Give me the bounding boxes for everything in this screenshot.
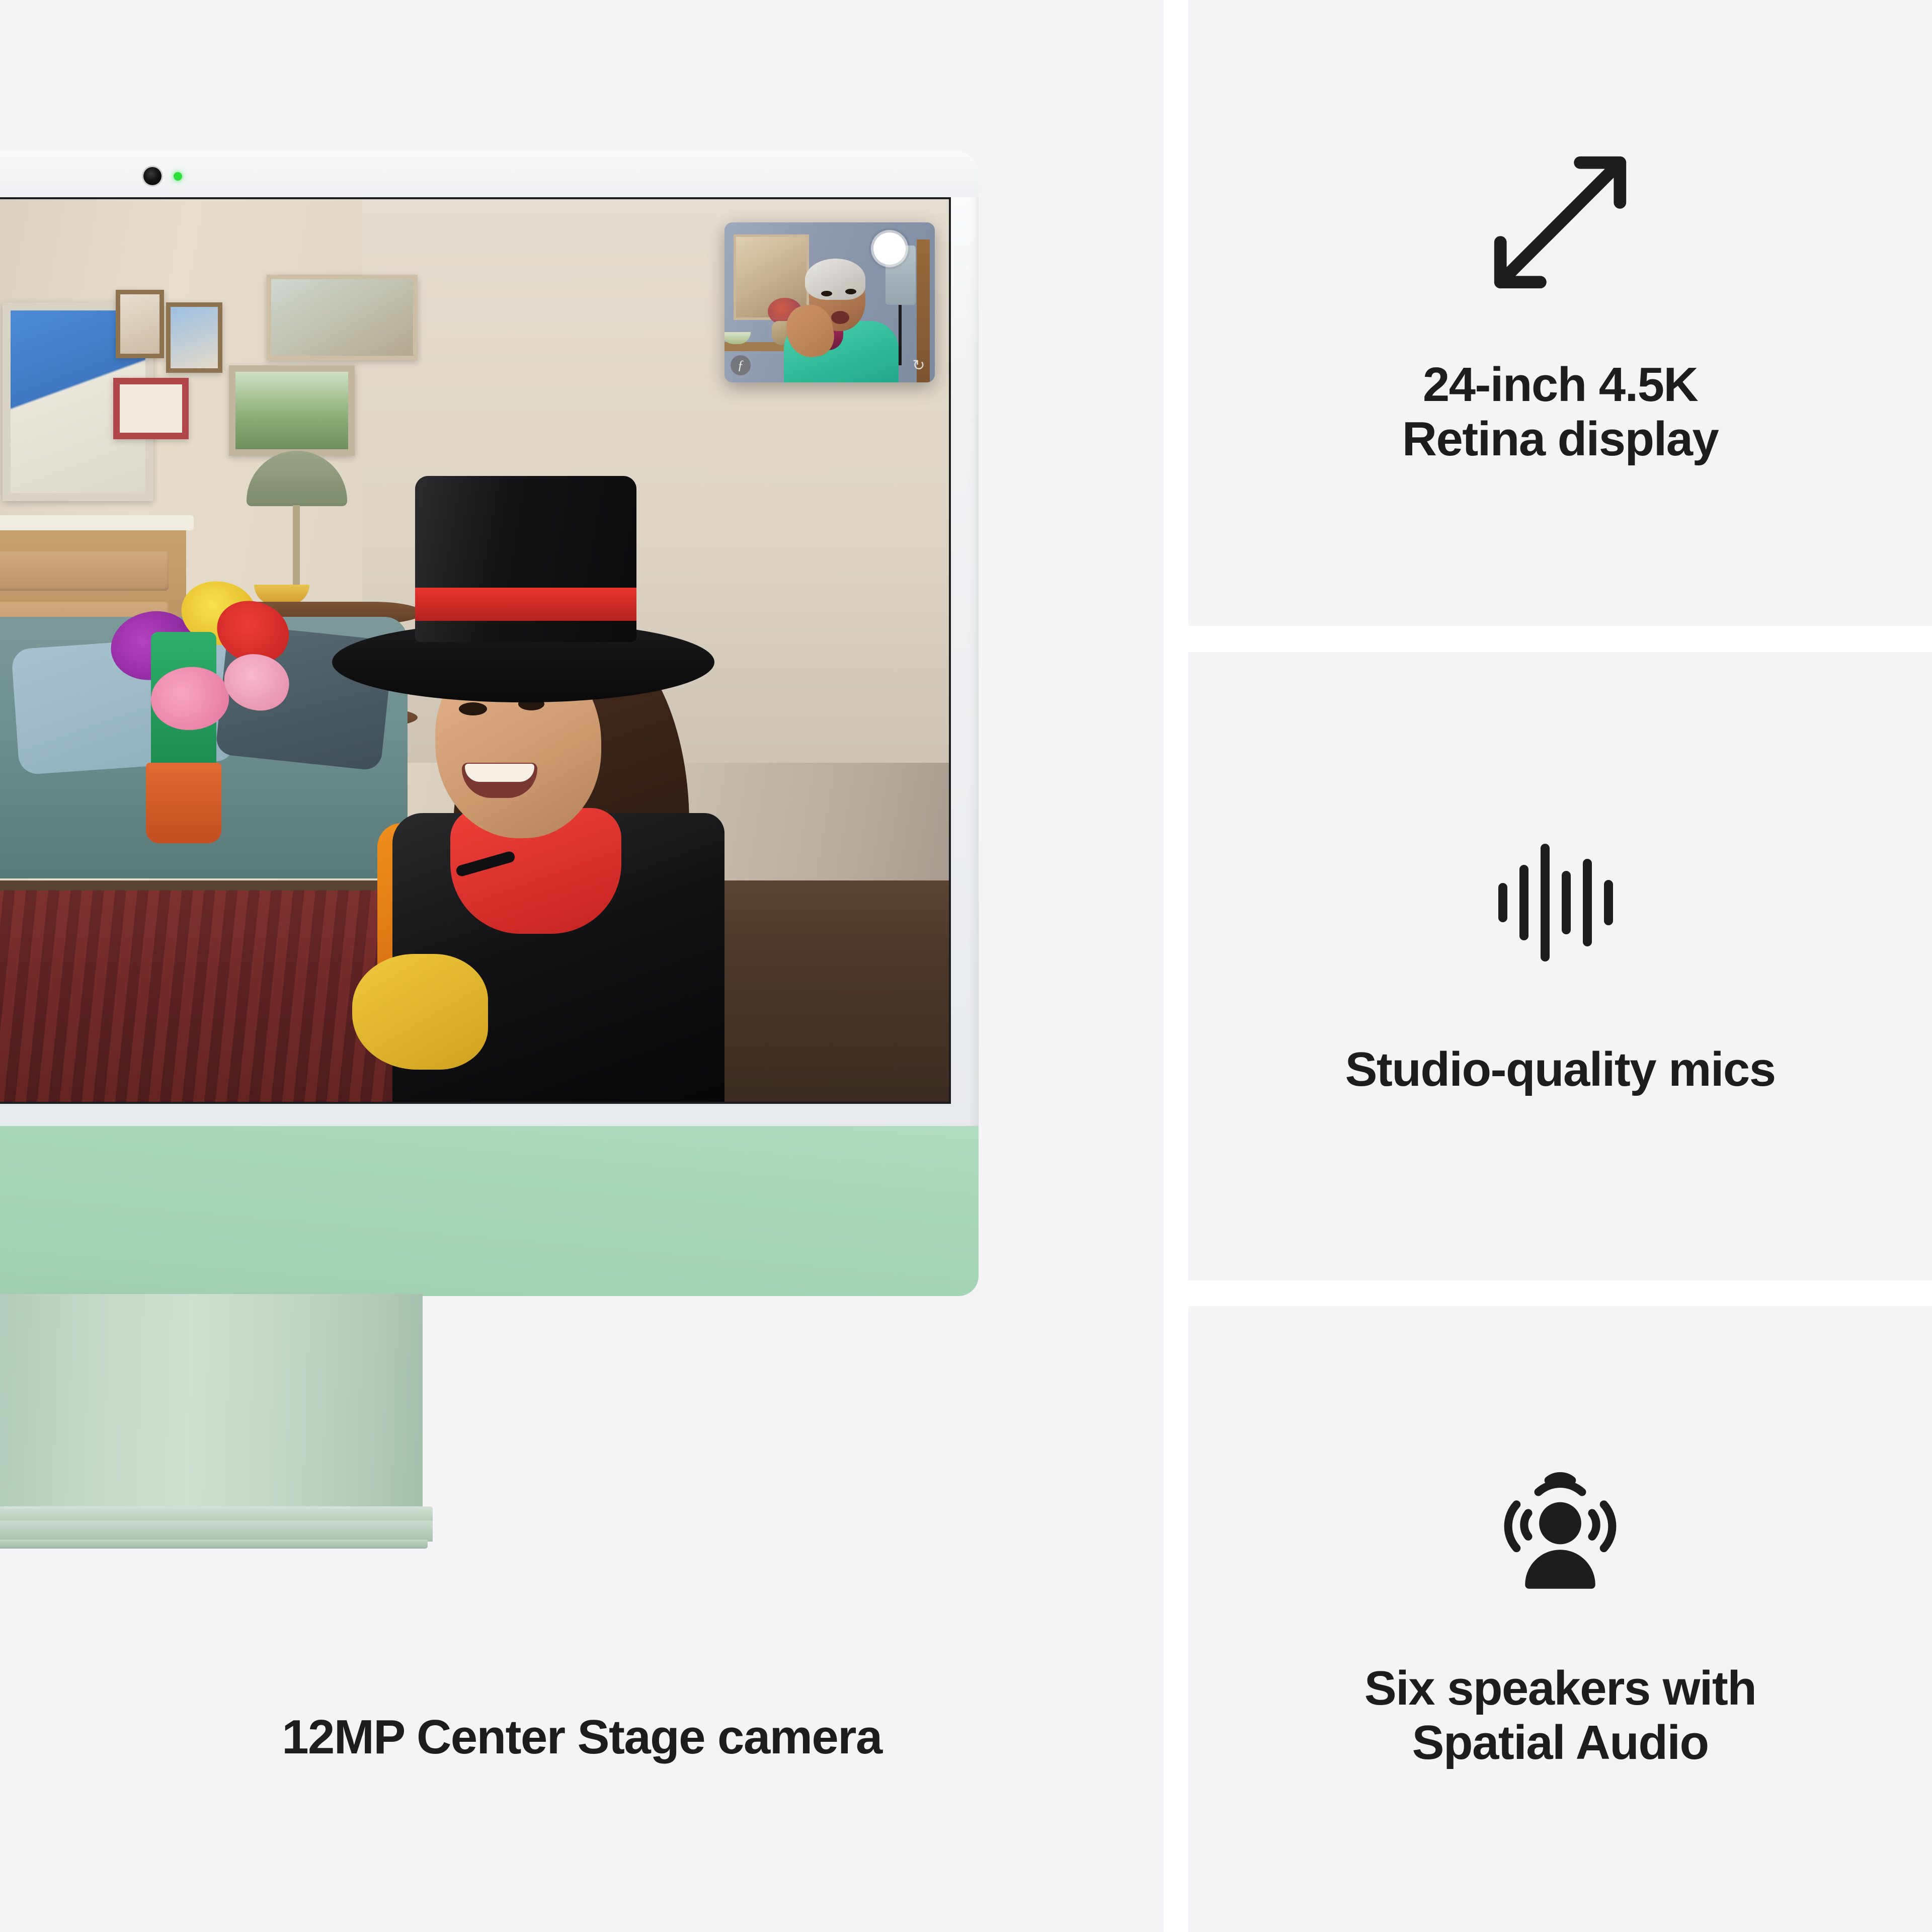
spatial-audio-person-icon: [1482, 1453, 1638, 1609]
wall-frame-landscape: [229, 365, 355, 456]
child-eye: [459, 702, 487, 715]
imac-product-image: ƒ ↻: [0, 151, 979, 1298]
display-feature-panel: 24-inch 4.5K Retina display: [1188, 0, 1932, 626]
camera-feature-caption: 12MP Center Stage camera: [0, 1710, 1164, 1765]
mics-feature-label: Studio-quality mics: [1345, 1042, 1775, 1097]
wall-frame-red: [113, 378, 189, 439]
camera-active-led-icon: [174, 172, 182, 181]
child-participant: [327, 461, 780, 1102]
imac-stand-foot: [0, 1540, 428, 1549]
pip-lamp-pole: [899, 305, 902, 365]
display-feature-label: 24-inch 4.5K Retina display: [1402, 358, 1718, 466]
child-glove: [352, 954, 488, 1070]
imac-stand-base: [0, 1520, 433, 1542]
wall-frame: [116, 290, 164, 358]
diagonal-arrows-expand-icon: [1477, 139, 1643, 305]
flower-pot: [146, 763, 221, 843]
audio-waveform-icon: [1485, 827, 1636, 978]
pip-eye: [821, 291, 832, 296]
speakers-feature-label: Six speakers with Spatial Audio: [1364, 1661, 1756, 1769]
screen-content: ƒ ↻: [0, 199, 949, 1102]
pip-mouth: [831, 311, 849, 324]
imac-display-enclosure: ƒ ↻: [0, 151, 979, 1127]
mics-feature-panel: Studio-quality mics: [1188, 652, 1932, 1280]
camera-feature-panel: ƒ ↻ 12MP Center Stage camera: [0, 0, 1164, 1932]
imac-stand-neck: [0, 1294, 423, 1510]
speakers-feature-panel: Six speakers with Spatial Audio: [1188, 1306, 1932, 1932]
imac-chin: [0, 1126, 979, 1296]
adult-participant: [0, 436, 35, 1102]
pip-eye: [845, 289, 856, 294]
camera-lens-icon: [143, 167, 162, 185]
wall-frame-map: [267, 275, 418, 360]
wall-frame: [166, 302, 222, 373]
shutter-button-icon[interactable]: [873, 232, 906, 265]
video-effects-icon[interactable]: ƒ: [731, 355, 751, 375]
flip-camera-icon[interactable]: ↻: [910, 356, 928, 374]
child-teeth: [465, 764, 534, 782]
top-hat-band: [415, 588, 636, 621]
imac-screen: ƒ ↻: [0, 197, 951, 1104]
pip-person-hair: [805, 259, 865, 300]
